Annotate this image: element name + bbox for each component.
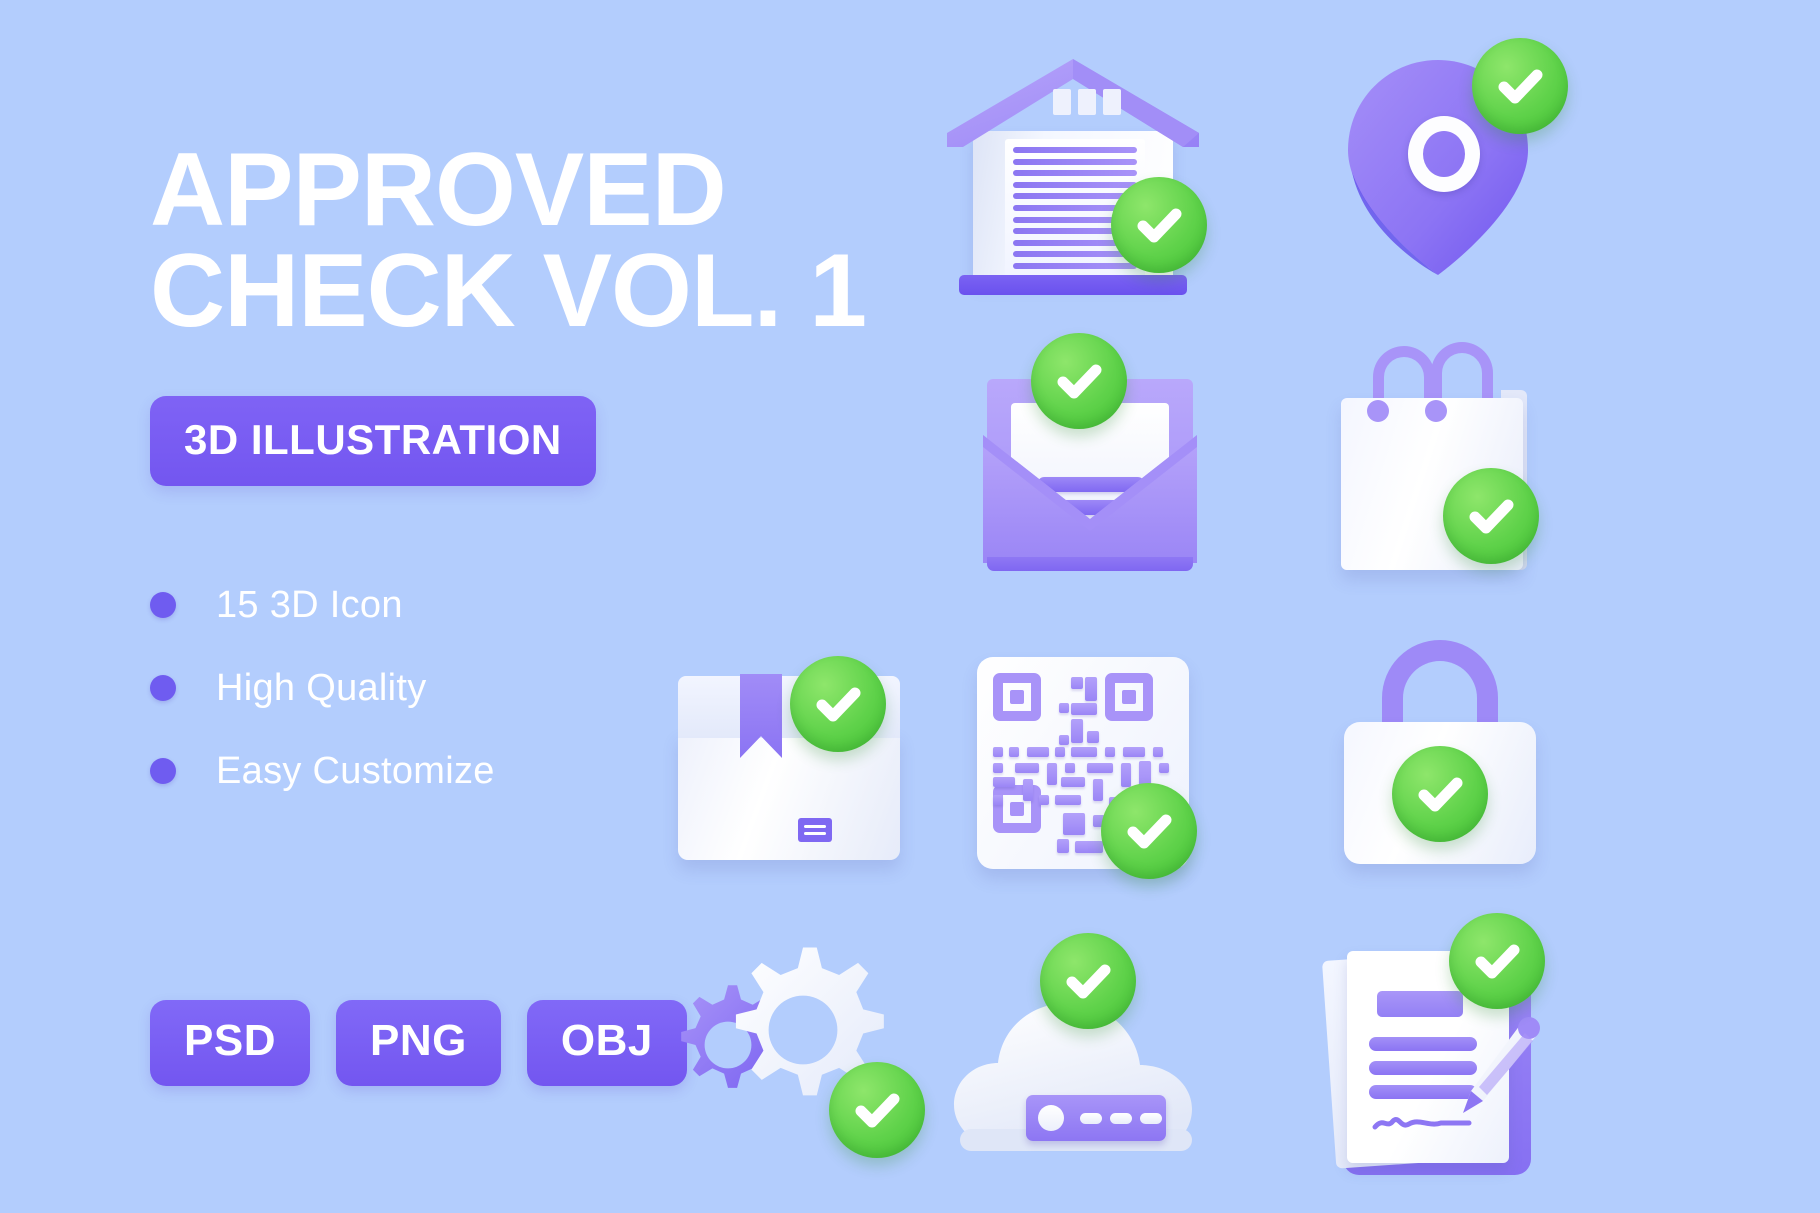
- feature-label: High Quality: [216, 667, 427, 710]
- icon-showcase-grid: [740, 0, 1820, 1213]
- package-box-check-icon: [630, 620, 940, 910]
- shopping-bag-check-icon: [1285, 320, 1595, 610]
- bag-handle: [1373, 346, 1435, 404]
- gears-check-icon: [625, 910, 935, 1200]
- bullet-dot-icon: [150, 592, 176, 618]
- envelope-check-icon: [935, 325, 1245, 615]
- envelope-front: [983, 435, 1197, 563]
- warehouse-check-icon: [925, 35, 1235, 325]
- check-badge-icon: [1111, 177, 1207, 273]
- check-badge-icon: [1472, 38, 1568, 134]
- format-badge-psd: PSD: [150, 1000, 310, 1086]
- check-badge-icon: [1443, 468, 1539, 564]
- check-badge-icon: [1449, 913, 1545, 1009]
- bag-knob: [1367, 400, 1389, 422]
- warehouse-base: [959, 275, 1187, 295]
- box-front: [678, 732, 900, 860]
- server-indicators: [1080, 1113, 1162, 1124]
- location-pin-check-icon: [1290, 20, 1600, 310]
- feature-label: Easy Customize: [216, 750, 495, 793]
- server-led: [1038, 1105, 1064, 1131]
- pen-icon: [1453, 1017, 1541, 1121]
- check-badge-icon: [790, 656, 886, 752]
- bullet-dot-icon: [150, 675, 176, 701]
- format-badge-png: PNG: [336, 1000, 501, 1086]
- server-bar: [1026, 1095, 1166, 1141]
- illustration-type-badge: 3D ILLUSTRATION: [150, 396, 596, 486]
- envelope-base: [987, 557, 1193, 571]
- box-shipping-label: [798, 818, 832, 842]
- bag-knob: [1425, 400, 1447, 422]
- qr-code-check-icon: [935, 615, 1245, 905]
- check-badge-icon: [1040, 933, 1136, 1029]
- document-pen-check-icon: [1285, 905, 1595, 1195]
- check-badge-icon: [1392, 746, 1488, 842]
- check-badge-icon: [829, 1062, 925, 1158]
- check-badge-icon: [1101, 783, 1197, 879]
- pin-hole: [1408, 116, 1480, 192]
- padlock-check-icon: [1290, 610, 1600, 900]
- feature-label: 15 3D Icon: [216, 584, 403, 627]
- cloud-server-check-icon: [930, 915, 1240, 1205]
- document-heading-block: [1377, 991, 1463, 1017]
- bag-handle: [1431, 342, 1493, 400]
- format-badge-row: PSD PNG OBJ: [150, 1000, 687, 1086]
- check-badge-icon: [1031, 333, 1127, 429]
- bullet-dot-icon: [150, 758, 176, 784]
- warehouse-windows: [1053, 89, 1121, 115]
